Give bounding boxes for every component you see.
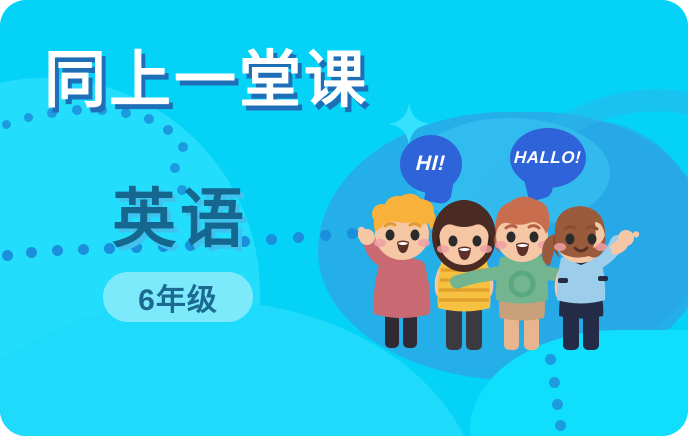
children-illustration <box>358 190 658 350</box>
course-banner: 同上一堂课 英语 6年级 HI! HALLO! <box>0 0 688 436</box>
speech-bubble-hallo-text: HALLO! <box>514 148 582 168</box>
speech-bubble-hi: HI! <box>400 135 462 193</box>
grade-badge-label: 6年级 <box>138 275 218 319</box>
child-4-ponytail-girl <box>542 206 639 350</box>
speech-bubble-hi-text: HI! <box>416 152 447 176</box>
grade-badge: 6年级 <box>103 272 253 322</box>
speech-bubble-hallo: HALLO! <box>510 128 586 188</box>
page-title: 同上一堂课 <box>44 48 369 113</box>
subject-title: 英语 <box>112 186 248 253</box>
child-1-blonde-boy <box>358 194 435 348</box>
